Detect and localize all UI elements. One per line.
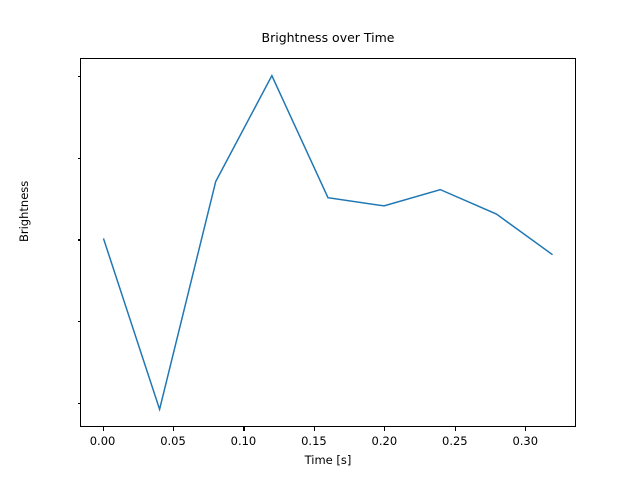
x-tick-label: 0.15: [301, 434, 327, 448]
x-tick-mark: [455, 427, 456, 431]
y-tick-mark: [78, 321, 82, 322]
chart-title: Brightness over Time: [80, 30, 576, 46]
x-tick-label: 0.10: [231, 434, 257, 448]
y-tick-mark: [78, 239, 82, 240]
plot-area: [80, 58, 576, 427]
data-line-series: [81, 59, 575, 426]
y-axis-label: Brightness: [17, 181, 31, 242]
series-polyline: [103, 76, 552, 410]
y-tick-mark: [78, 158, 82, 159]
y-tick-mark: [78, 76, 82, 77]
x-tick-mark: [243, 427, 244, 431]
x-tick-label: 0.05: [160, 434, 186, 448]
y-tick-mark: [78, 403, 82, 404]
x-tick-label: 0.00: [90, 434, 116, 448]
x-tick-mark: [103, 427, 104, 431]
figure-canvas: Brightness over Time Brightness Time [s]…: [0, 0, 640, 480]
x-tick-label: 0.25: [442, 434, 468, 448]
x-tick-mark: [525, 427, 526, 431]
x-tick-mark: [384, 427, 385, 431]
x-tick-mark: [314, 427, 315, 431]
x-tick-mark: [173, 427, 174, 431]
x-tick-label: 0.30: [512, 434, 538, 448]
x-axis-label: Time [s]: [80, 453, 576, 467]
x-tick-label: 0.20: [372, 434, 398, 448]
